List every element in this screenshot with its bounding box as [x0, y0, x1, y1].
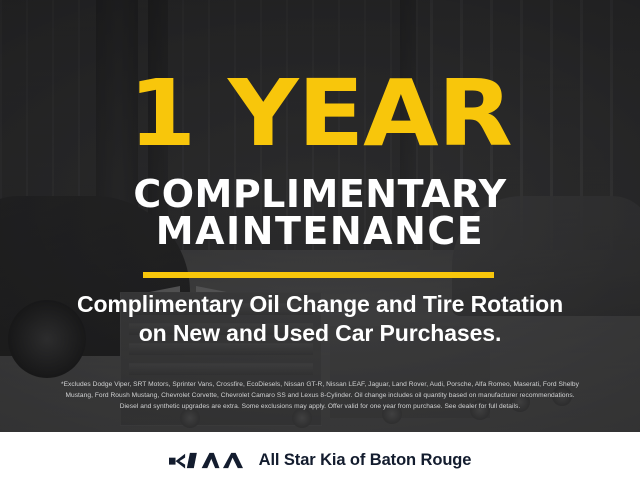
accent-divider [143, 272, 494, 278]
offer-line1: Complimentary Oil Change and Tire Rotati… [77, 291, 563, 317]
disclaimer-line2: Mustang, Ford Roush Mustang, Chevrolet C… [14, 390, 626, 401]
disclaimer-line3: Diesel and synthetic upgrades are extra.… [14, 401, 626, 412]
offer-description: Complimentary Oil Change and Tire Rotati… [0, 290, 640, 348]
disclaimer-text: *Excludes Dodge Viper, SRT Motors, Sprin… [14, 379, 626, 413]
dealer-name: All Star Kia of Baton Rouge [259, 451, 472, 470]
offer-line2: on New and Used Car Purchases. [0, 319, 640, 348]
headline-secondary: COMPLIMENTARY MAINTENANCE [0, 176, 640, 250]
kia-logo [169, 451, 243, 470]
disclaimer-line1: *Excludes Dodge Viper, SRT Motors, Sprin… [14, 379, 626, 390]
headline-primary: 1 YEAR [0, 68, 640, 160]
headline-secondary-line2: MAINTENANCE [0, 213, 640, 250]
footer-brand-bar: All Star Kia of Baton Rouge [0, 432, 640, 488]
ad-copy: 1 YEAR COMPLIMENTARY MAINTENANCE Complim… [0, 0, 640, 432]
promotional-banner: 1 YEAR COMPLIMENTARY MAINTENANCE Complim… [0, 0, 640, 488]
hero-section: 1 YEAR COMPLIMENTARY MAINTENANCE Complim… [0, 0, 640, 432]
